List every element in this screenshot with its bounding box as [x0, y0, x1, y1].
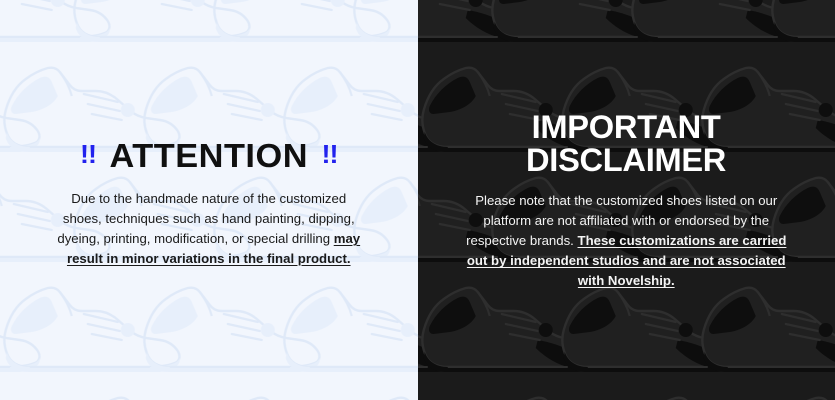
- attention-heading-text: ATTENTION: [109, 139, 308, 172]
- disclaimer-heading: IMPORTANT DISCLAIMER: [526, 111, 726, 178]
- disclaimer-body: Please note that the customized shoes li…: [465, 191, 787, 291]
- disclaimer-banner: !! ATTENTION !! Due to the handmade natu…: [0, 0, 835, 400]
- disclaimer-content: IMPORTANT DISCLAIMER Please note that th…: [418, 0, 835, 400]
- attention-body-normal: Due to the handmade nature of the custom…: [57, 191, 354, 246]
- attention-content: !! ATTENTION !! Due to the handmade natu…: [0, 0, 418, 400]
- disclaimer-panel: IMPORTANT DISCLAIMER Please note that th…: [418, 0, 835, 400]
- disclaimer-heading-line-1: IMPORTANT: [526, 111, 726, 144]
- attention-panel: !! ATTENTION !! Due to the handmade natu…: [0, 0, 418, 400]
- exclamation-left-icon: !!: [80, 141, 96, 167]
- exclamation-right-icon: !!: [322, 141, 338, 167]
- attention-heading: !! ATTENTION !!: [80, 139, 337, 172]
- attention-body: Due to the handmade nature of the custom…: [52, 189, 365, 269]
- disclaimer-heading-line-2: DISCLAIMER: [526, 144, 726, 177]
